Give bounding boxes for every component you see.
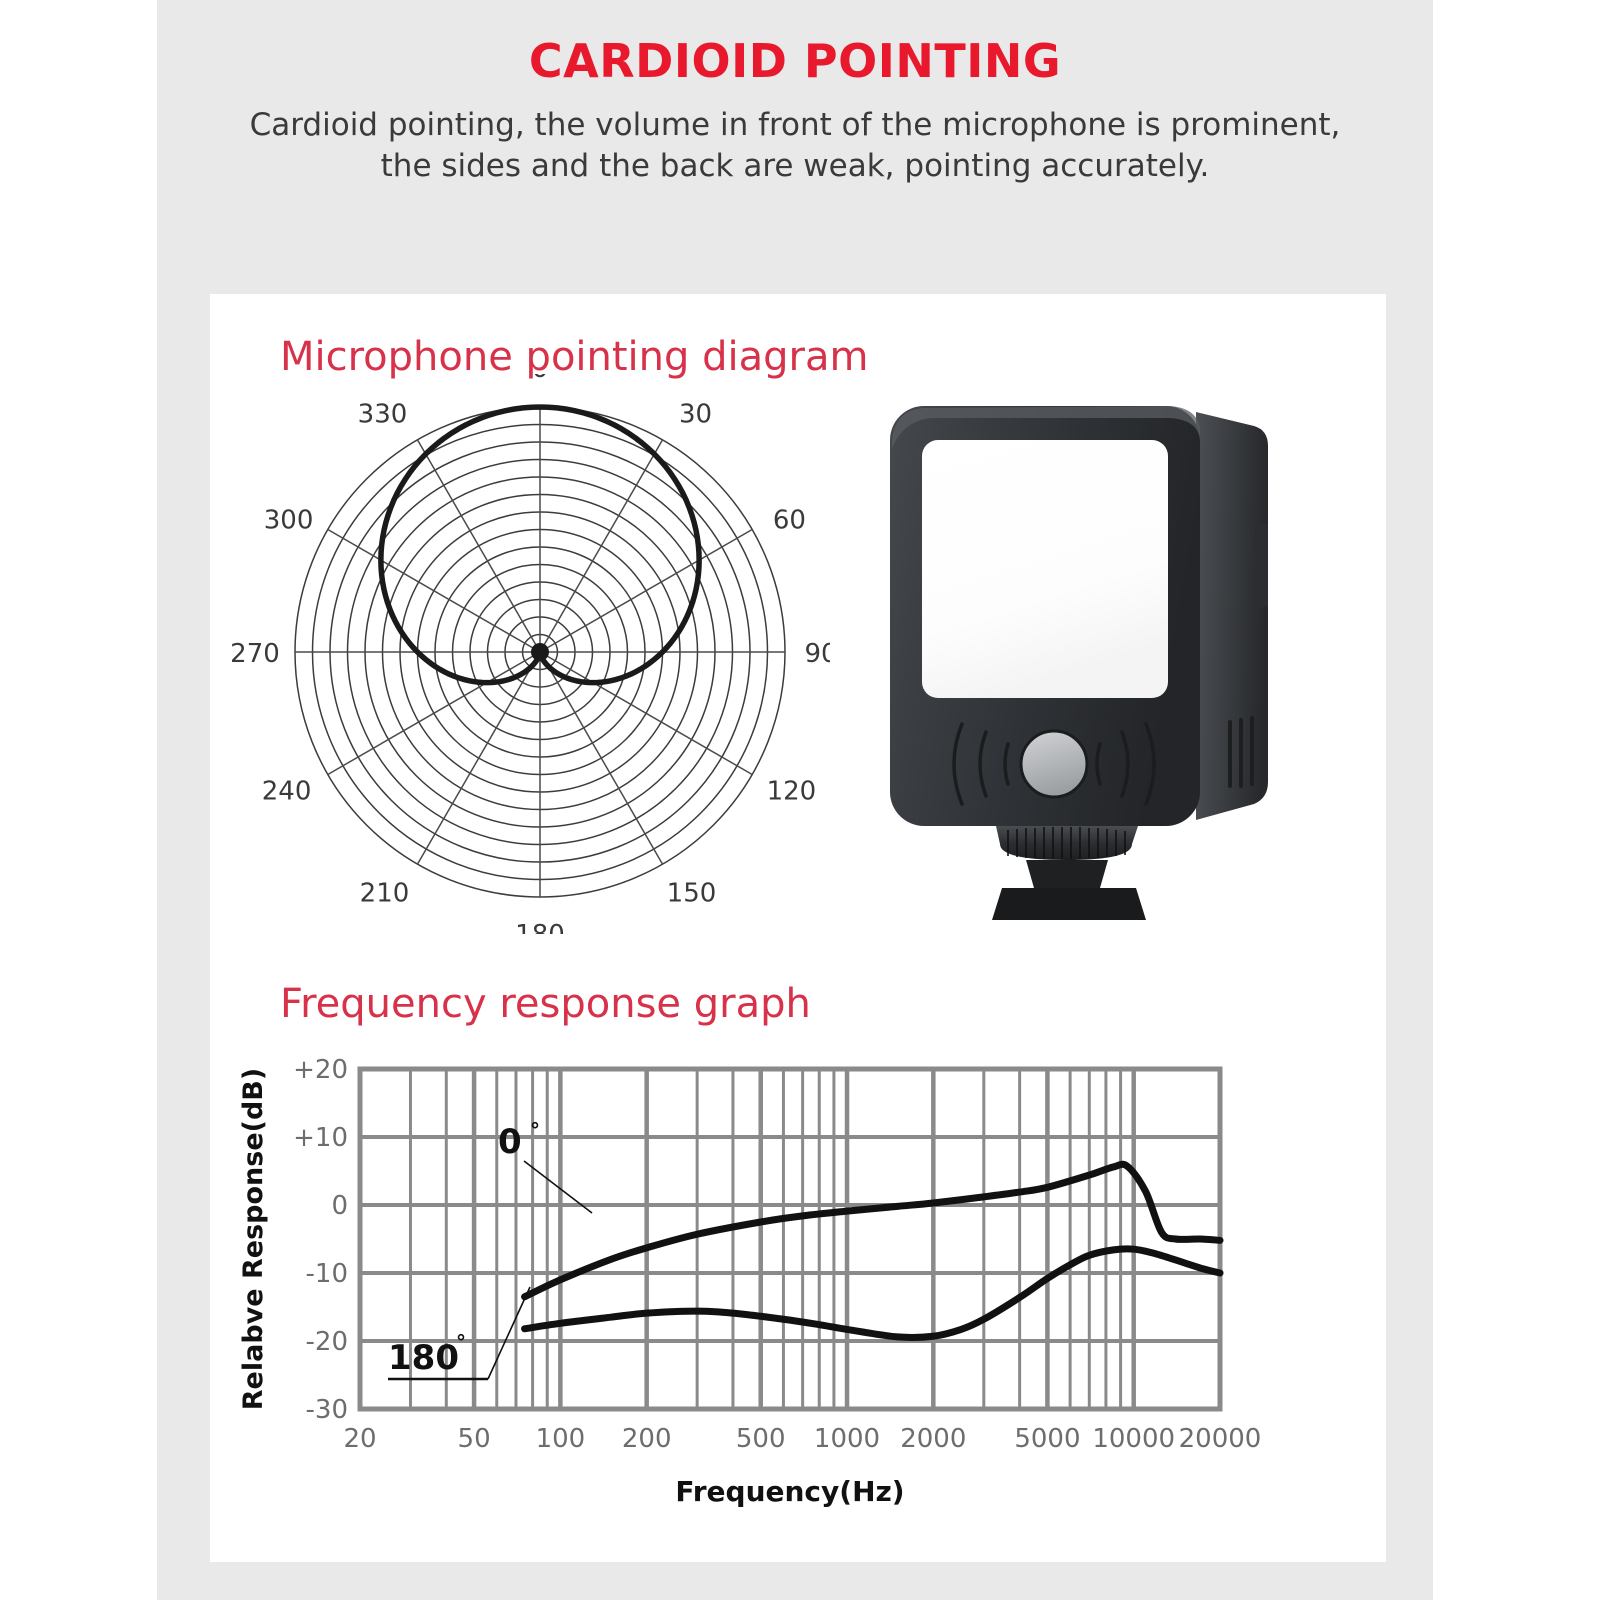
polar-spoke <box>328 652 540 775</box>
y-grid-lines <box>360 1069 1220 1409</box>
polar-angle-label: 330 <box>358 400 408 430</box>
x-grid-lines <box>360 1069 1220 1409</box>
y-tick-label: -10 <box>306 1259 348 1289</box>
y-tick-label: 0 <box>331 1191 348 1221</box>
x-tick-label: 200 <box>622 1424 672 1454</box>
x-tick-label: 500 <box>736 1424 786 1454</box>
page-root: CARDIOID POINTING Cardioid pointing, the… <box>0 0 1600 1600</box>
power-button[interactable] <box>1021 731 1087 797</box>
content-card: Microphone pointing diagram 030609012015… <box>210 294 1386 1562</box>
x-tick-label: 20 <box>343 1424 376 1454</box>
subtitle-line-2: the sides and the back are weak, pointin… <box>225 146 1365 187</box>
polar-angle-label: 30 <box>679 400 712 430</box>
annotation-0-degree: 0 ° <box>498 1118 592 1213</box>
polar-spoke <box>328 530 540 653</box>
hot-shoe-neck <box>1026 860 1108 888</box>
polar-spoke <box>540 530 752 653</box>
page-title: CARDIOID POINTING <box>157 34 1433 88</box>
polar-angle-label: 270 <box>230 639 280 669</box>
y-tick-label: -30 <box>306 1395 348 1425</box>
svg-text:°: ° <box>530 1118 540 1142</box>
svg-text:0: 0 <box>498 1122 522 1162</box>
y-axis-label: Relabve Response(dB) <box>240 1068 269 1410</box>
y-axis-ticks: +20+100-10-20-30 <box>293 1055 348 1425</box>
polar-angle-label: 180 <box>515 920 565 934</box>
polar-angle-labels: 0306090120150180210240270300330 <box>230 374 830 934</box>
polar-angle-label: 60 <box>773 506 806 536</box>
polar-angle-label: 120 <box>767 777 817 807</box>
x-tick-label: 20000 <box>1179 1424 1262 1454</box>
curve-0-degree <box>525 1164 1220 1297</box>
polar-angle-label: 240 <box>262 777 312 807</box>
svg-text:°: ° <box>456 1330 466 1354</box>
hot-shoe-foot <box>992 888 1146 920</box>
product-side-port <box>1254 524 1268 610</box>
product-image-svg <box>850 374 1370 954</box>
frequency-graph-svg: Relabve Response(dB) +20+100-10-20-30 0 … <box>240 1049 1360 1529</box>
polar-diagram-svg: 0306090120150180210240270300330 <box>230 374 830 934</box>
page-subtitle: Cardioid pointing, the volume in front o… <box>225 105 1365 187</box>
polar-diagram: 0306090120150180210240270300330 <box>230 374 830 934</box>
x-axis-label: Frequency(Hz) <box>675 1475 904 1508</box>
x-tick-label: 10000 <box>1092 1424 1175 1454</box>
product-image <box>850 374 1370 954</box>
polar-center-dot <box>531 643 549 661</box>
polar-spoke <box>540 652 752 775</box>
polar-angle-label: 210 <box>360 878 410 908</box>
header: CARDIOID POINTING Cardioid pointing, the… <box>157 0 1433 292</box>
polar-angle-label: 0 <box>532 374 549 384</box>
polar-angle-label: 90 <box>804 639 830 669</box>
subtitle-line-1: Cardioid pointing, the volume in front o… <box>250 107 1341 143</box>
x-axis-ticks: 20501002005001000200050001000020000 <box>343 1424 1261 1454</box>
plot-frame <box>360 1069 1220 1409</box>
y-tick-label: -20 <box>306 1327 348 1357</box>
y-tick-label: +10 <box>293 1123 348 1153</box>
frequency-response-graph: Relabve Response(dB) +20+100-10-20-30 0 … <box>240 1049 1360 1529</box>
x-tick-label: 50 <box>458 1424 491 1454</box>
polar-angle-label: 300 <box>264 506 314 536</box>
frequency-graph-title: Frequency response graph <box>280 981 811 1027</box>
polar-spoke <box>418 440 541 652</box>
polar-spoke <box>540 440 663 652</box>
y-tick-label: +20 <box>293 1055 348 1085</box>
diffuser-screen <box>922 440 1168 698</box>
x-tick-label: 2000 <box>900 1424 966 1454</box>
curve-180-degree <box>525 1249 1220 1338</box>
x-tick-label: 5000 <box>1014 1424 1080 1454</box>
x-tick-label: 100 <box>536 1424 586 1454</box>
svg-text:180: 180 <box>388 1338 459 1378</box>
x-tick-label: 1000 <box>814 1424 880 1454</box>
polar-angle-label: 150 <box>667 878 717 908</box>
